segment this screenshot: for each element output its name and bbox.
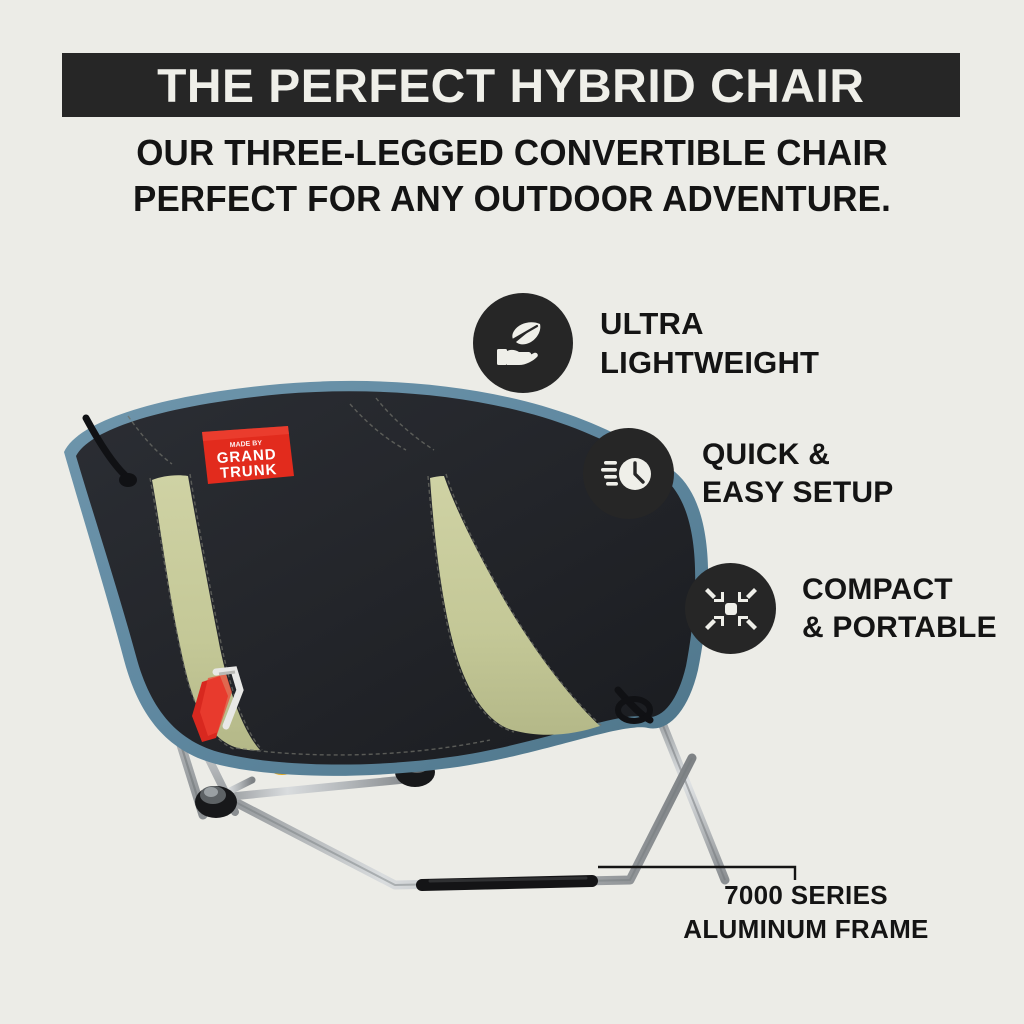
callout-text: 7000 SERIES ALUMINUM FRAME	[596, 878, 1016, 946]
feature-3-line-2: & PORTABLE	[802, 609, 997, 647]
feature-1-circle	[473, 293, 573, 393]
feature-ultra-lightweight[interactable]: ULTRA LIGHTWEIGHT	[473, 293, 819, 393]
compress-arrows-icon	[703, 581, 759, 637]
infographic-canvas: THE PERFECT HYBRID CHAIR OUR THREE-LEGGE…	[0, 0, 1024, 1024]
feature-2-label: QUICK & EASY SETUP	[702, 436, 894, 512]
feature-compact-portable[interactable]: COMPACT & PORTABLE	[685, 563, 997, 654]
subtitle-line-2: PERFECT FOR ANY OUTDOOR ADVENTURE.	[15, 176, 1008, 222]
feature-1-label: ULTRA LIGHTWEIGHT	[600, 304, 819, 382]
feature-3-line-1: COMPACT	[802, 571, 997, 609]
clock-speed-icon	[600, 445, 658, 503]
callout-line-1: 7000 SERIES	[596, 878, 1016, 912]
feature-quick-easy-setup[interactable]: QUICK & EASY SETUP	[583, 428, 894, 519]
feature-2-line-2: EASY SETUP	[702, 474, 894, 512]
subtitle-line-1: OUR THREE-LEGGED CONVERTIBLE CHAIR	[15, 130, 1008, 176]
callout-line-2: ALUMINUM FRAME	[596, 912, 1016, 946]
brand-patch: MADE BY GRAND TRUNK	[202, 426, 294, 484]
hand-holding-feather-icon	[491, 311, 555, 375]
chair-cross-brace	[216, 778, 420, 798]
headline-banner: THE PERFECT HYBRID CHAIR	[62, 53, 960, 117]
feature-3-label: COMPACT & PORTABLE	[802, 571, 997, 647]
feature-2-circle	[583, 428, 674, 519]
feature-2-line-1: QUICK &	[702, 436, 894, 474]
feature-1-line-2: LIGHTWEIGHT	[600, 343, 819, 382]
chair-foot-left	[195, 786, 237, 818]
subtitle: OUR THREE-LEGGED CONVERTIBLE CHAIR PERFE…	[0, 130, 1024, 222]
page-title: THE PERFECT HYBRID CHAIR	[157, 62, 864, 109]
feature-3-circle	[685, 563, 776, 654]
feature-1-line-1: ULTRA	[600, 304, 819, 343]
